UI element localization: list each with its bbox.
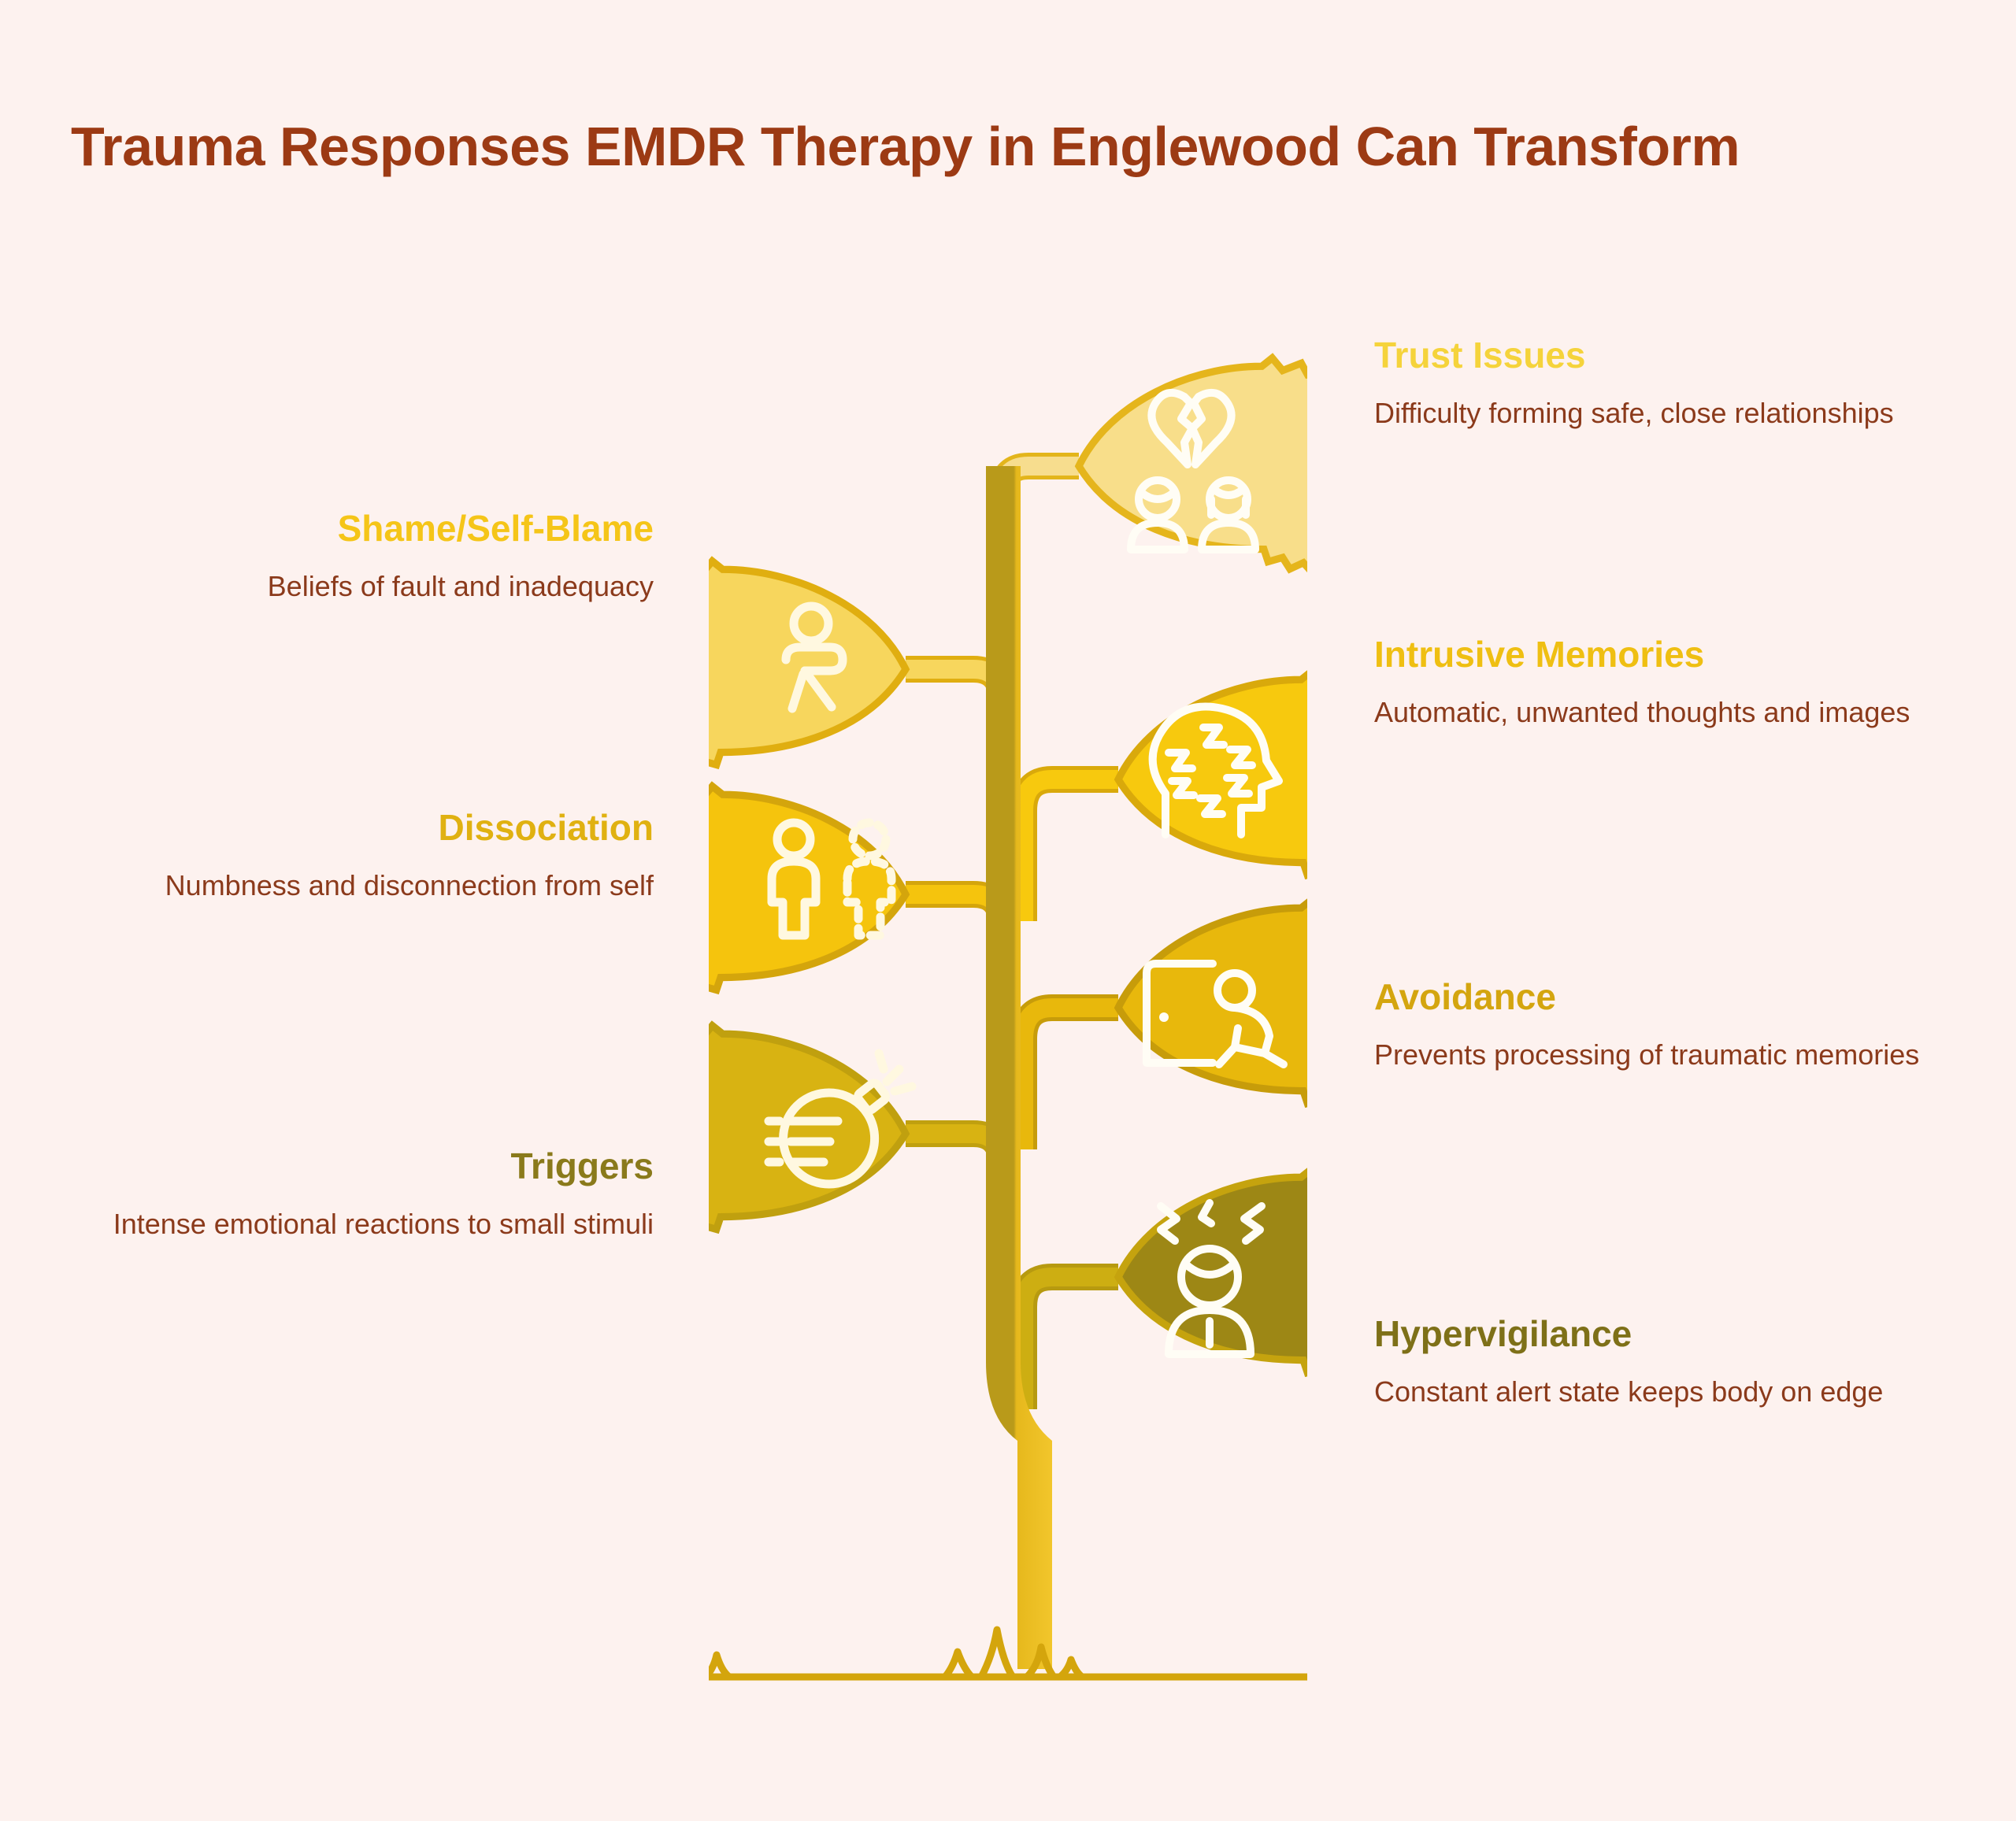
page-title: Trauma Responses EMDR Therapy in Englewo… xyxy=(71,117,1961,177)
item-dissociation-description: Numbness and disconnection from self xyxy=(102,866,654,905)
item-trust-issues: Trust Issues Difficulty forming safe, cl… xyxy=(1374,335,1988,433)
leaf-dissociation xyxy=(709,787,906,1001)
item-trust-issues-heading: Trust Issues xyxy=(1374,335,1988,376)
tree-diagram xyxy=(709,260,1307,1740)
item-intrusive-memories-heading: Intrusive Memories xyxy=(1374,634,1988,675)
item-dissociation: Dissociation Numbness and disconnection … xyxy=(102,807,654,905)
item-avoidance-heading: Avoidance xyxy=(1374,976,1988,1018)
item-dissociation-heading: Dissociation xyxy=(102,807,654,849)
item-triggers-description: Intense emotional reactions to small sti… xyxy=(102,1205,654,1244)
item-intrusive-memories: Intrusive Memories Automatic, unwanted t… xyxy=(1374,634,1988,732)
item-triggers: Triggers Intense emotional reactions to … xyxy=(102,1146,654,1244)
infographic-root: Trauma Responses EMDR Therapy in Englewo… xyxy=(0,0,2016,1821)
item-avoidance: Avoidance Prevents processing of traumat… xyxy=(1374,976,1988,1075)
item-avoidance-description: Prevents processing of traumatic memorie… xyxy=(1374,1035,1988,1075)
item-hypervigilance: Hypervigilance Constant alert state keep… xyxy=(1374,1313,1988,1412)
tree-trunk xyxy=(973,466,1052,1669)
item-shame: Shame/Self-Blame Beliefs of fault and in… xyxy=(102,508,654,606)
item-intrusive-memories-description: Automatic, unwanted thoughts and images xyxy=(1374,693,1988,732)
item-shame-heading: Shame/Self-Blame xyxy=(102,508,654,550)
item-hypervigilance-description: Constant alert state keeps body on edge xyxy=(1374,1372,1988,1412)
item-trust-issues-description: Difficulty forming safe, close relations… xyxy=(1374,394,1988,433)
item-hypervigilance-heading: Hypervigilance xyxy=(1374,1313,1988,1355)
item-triggers-heading: Triggers xyxy=(102,1146,654,1187)
item-shame-description: Beliefs of fault and inadequacy xyxy=(102,567,654,606)
